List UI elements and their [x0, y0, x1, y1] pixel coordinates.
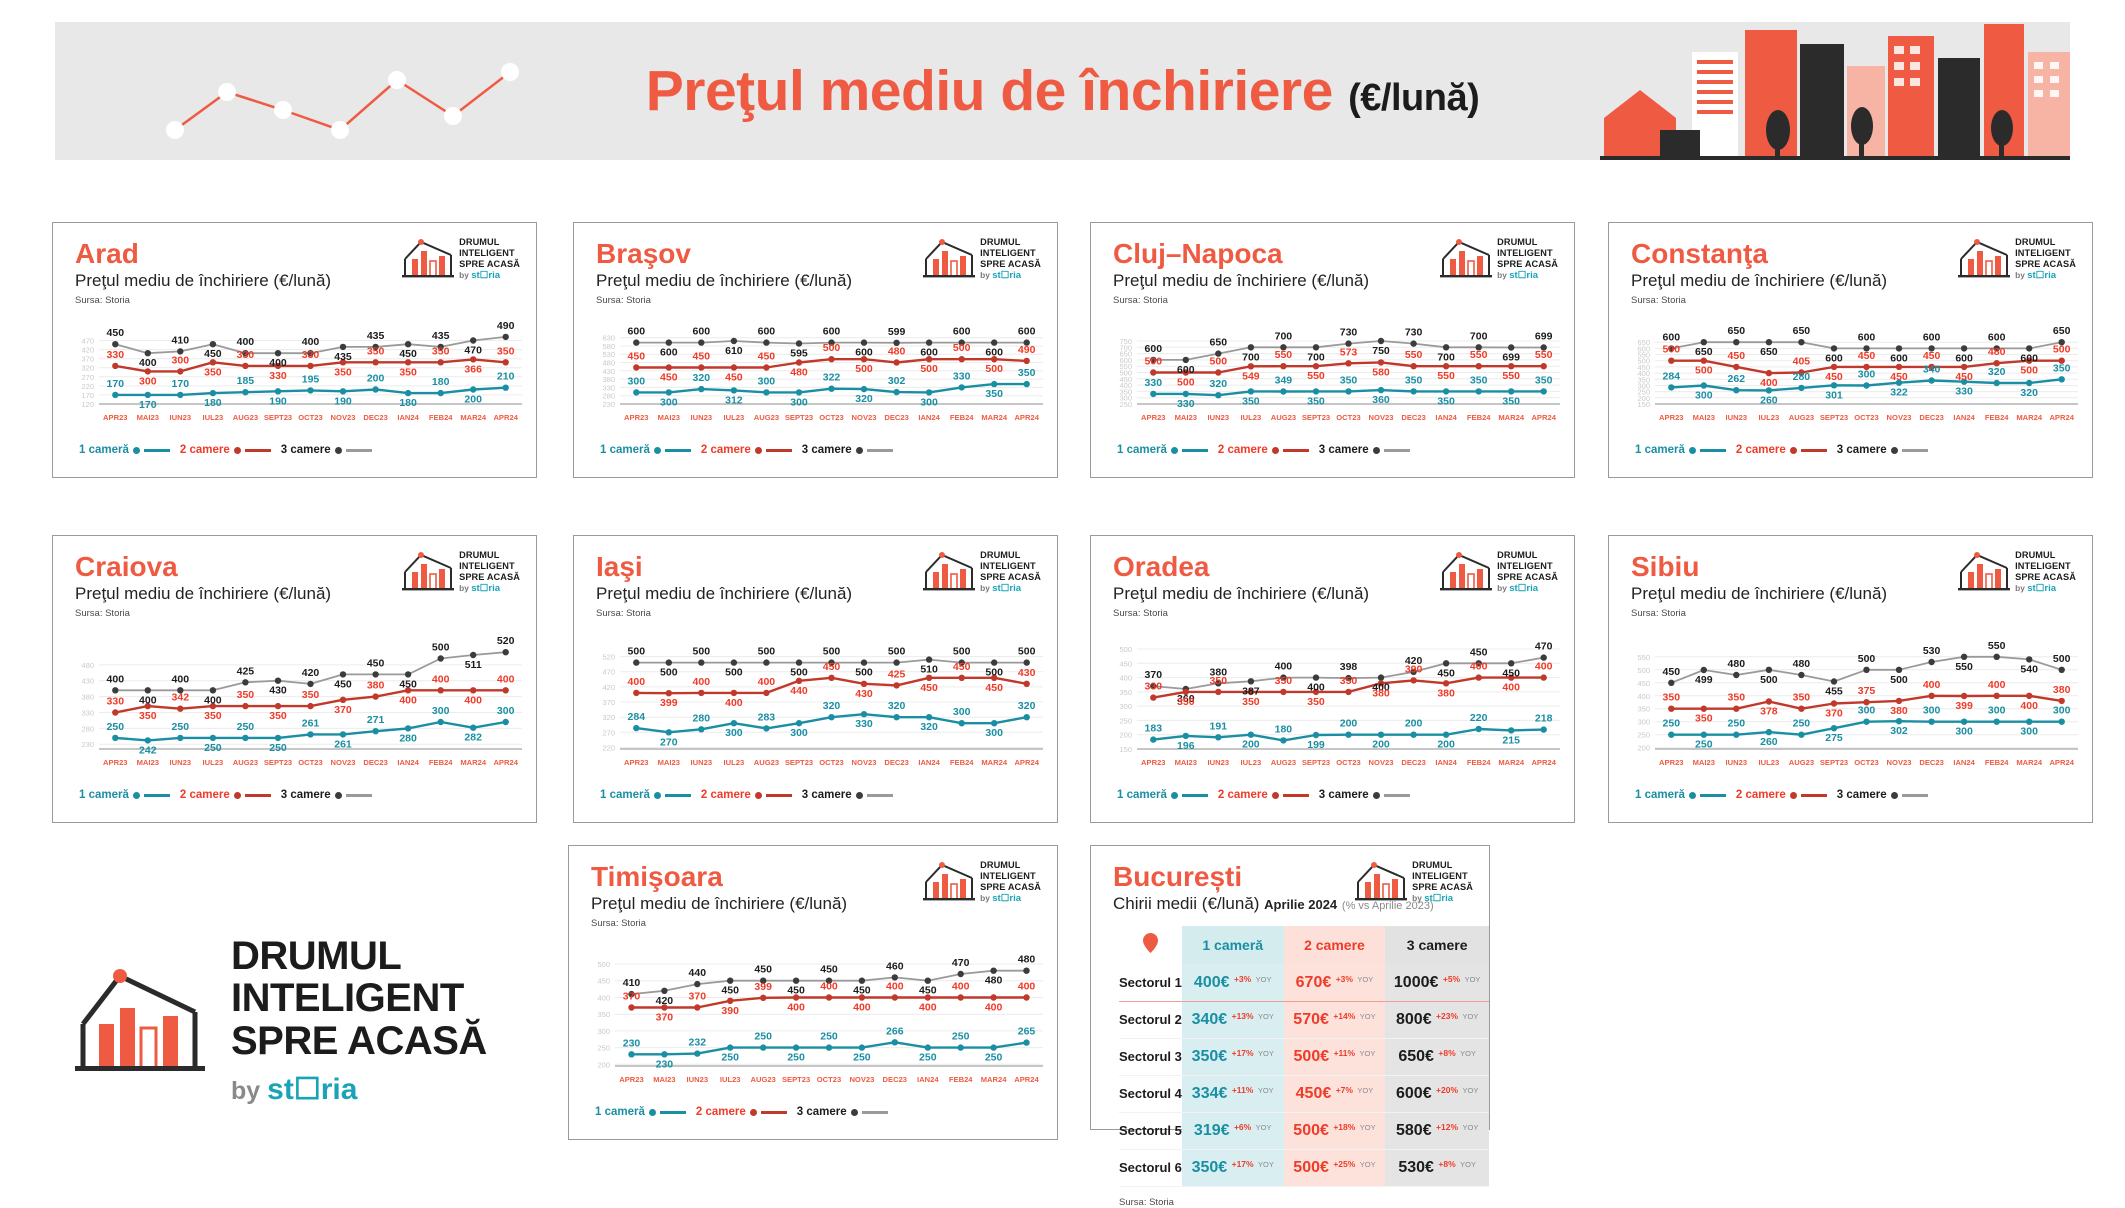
data-label: 580 [1372, 367, 1390, 379]
data-label: 300 [758, 376, 776, 388]
table-cell-value: 400€ +3% YOY [1182, 964, 1284, 1001]
data-label: 200 [1405, 718, 1423, 730]
legend-line-icon [766, 449, 792, 451]
cityscape-illustration [1600, 22, 2070, 160]
rent-yoy-label: YOY [1258, 1160, 1274, 1169]
data-label: 450 [853, 985, 871, 997]
storia-wordmark: st☐ria [1424, 893, 1453, 904]
data-point [1443, 732, 1449, 738]
brand-by: by st☐ria [980, 893, 1041, 904]
data-point [1476, 363, 1482, 369]
data-point [1508, 363, 1514, 369]
data-label: 400 [269, 358, 287, 370]
brand-line2: INTELIGENT [1412, 871, 1473, 882]
data-label: 200 [1372, 739, 1390, 751]
legend-item-2[interactable]: 2 camere [1736, 789, 1827, 801]
data-label: 322 [1890, 387, 1908, 399]
data-point [990, 968, 996, 974]
data-label: 550 [1437, 371, 1455, 383]
svg-text:500: 500 [1119, 645, 1132, 654]
x-axis-tick: FEB24 [950, 758, 974, 767]
data-label: 400 [464, 695, 482, 707]
svg-text:220: 220 [81, 382, 94, 391]
table-row: Sectorul 3 350€ +17% YOY 500€ +11% YOY 6… [1119, 1038, 1489, 1075]
legend-line-icon [867, 449, 893, 451]
rent-pct-change: +8% [1438, 1159, 1455, 1169]
brand-line2: INTELIGENT [1497, 248, 1558, 259]
data-label: 350 [1535, 375, 1553, 387]
x-axis-tick: OCT23 [1854, 758, 1878, 767]
data-point [470, 338, 476, 344]
data-label: 650 [1210, 337, 1228, 349]
data-label: 330 [269, 370, 287, 382]
x-axis-tick: MAR24 [460, 413, 487, 422]
data-label: 450 [1923, 350, 1941, 362]
data-label: 420 [302, 667, 320, 679]
brand-line1: DRUMUL [980, 860, 1041, 871]
data-label: 400 [952, 981, 970, 993]
data-point [470, 725, 476, 731]
data-point [503, 334, 509, 340]
legend-item-1[interactable]: 1 cameră [1117, 444, 1208, 456]
rent-value: 580€ [1396, 1122, 1432, 1139]
legend-item-3[interactable]: 3 camere [802, 444, 893, 456]
data-point [666, 390, 672, 396]
table-header-row: 1 cameră 2 camere 3 camere [1119, 926, 1489, 964]
rent-pct-change: +17% [1232, 1159, 1254, 1169]
x-axis-tick: IUL23 [724, 758, 745, 767]
data-point [340, 732, 346, 738]
data-point [1378, 338, 1384, 344]
data-point [1443, 680, 1449, 686]
brand-line1: DRUMUL [2015, 550, 2076, 561]
data-point [1831, 679, 1837, 685]
card-source: Sursa: Storia [596, 295, 1057, 306]
drumul-house-icon [1355, 860, 1407, 902]
data-label: 500 [985, 667, 1003, 679]
rent-pct-change: +20% [1436, 1085, 1458, 1095]
legend-line-icon [1384, 449, 1410, 451]
data-point [2026, 380, 2032, 386]
data-label: 250 [787, 1052, 805, 1064]
data-point [760, 1045, 766, 1051]
data-point [1896, 667, 1902, 673]
legend-item-1[interactable]: 1 cameră [79, 444, 170, 456]
brand-line3: SPRE ACASĂ [1497, 572, 1558, 583]
data-point [633, 725, 639, 731]
brand-line3: SPRE ACASĂ [980, 572, 1041, 583]
data-point [503, 649, 509, 655]
data-label: 650 [1760, 347, 1778, 359]
data-point [242, 679, 248, 685]
data-label: 230 [656, 1059, 674, 1071]
data-label: 280 [399, 733, 417, 745]
data-label: 350 [1307, 396, 1325, 408]
data-label: 195 [302, 374, 320, 386]
data-point [893, 683, 899, 689]
data-label: 390 [1405, 664, 1423, 676]
data-label: 400 [1307, 682, 1325, 694]
legend-line-icon [245, 794, 271, 796]
legend-label: 2 camere [1218, 789, 1268, 801]
data-label: 400 [1988, 679, 2006, 691]
data-point [991, 720, 997, 726]
data-label: 300 [497, 705, 515, 717]
svg-text:470: 470 [602, 668, 615, 677]
data-point [112, 710, 118, 716]
x-axis-tick: MAI23 [137, 758, 159, 767]
card-brand-lockup: DRUMUL INTELIGENT SPRE ACASĂ by st☐ria [923, 860, 1041, 904]
data-label: 600 [985, 347, 1003, 359]
table-cell-value: 580€ +12% YOY [1385, 1112, 1489, 1149]
brand-line3: SPRE ACASĂ [459, 572, 520, 583]
footer-logo-line3: SPRE ACASĂ [231, 1020, 487, 1062]
city-card-craiova: Craiova Preţul mediu de închiriere (€/lu… [52, 535, 537, 823]
svg-text:450: 450 [1119, 660, 1132, 669]
legend-item-2[interactable]: 2 camere [701, 789, 792, 801]
legend-item-2[interactable]: 2 camere [180, 444, 271, 456]
x-axis-tick: APR23 [1659, 758, 1683, 767]
data-point [112, 392, 118, 398]
data-point [1183, 357, 1189, 363]
x-axis-tick: IUL23 [720, 1075, 741, 1084]
data-label: 266 [886, 1026, 904, 1038]
table-cell-sector: Sectorul 2 [1119, 1001, 1182, 1038]
table-header-pin [1119, 926, 1182, 964]
data-label: 300 [660, 397, 678, 409]
data-point [861, 681, 867, 687]
legend-line-icon [346, 449, 372, 451]
data-label: 500 [855, 364, 873, 376]
x-axis-tick: NOV23 [849, 1075, 874, 1084]
x-axis-tick: DEC23 [884, 413, 908, 422]
legend-dot-icon [856, 447, 863, 454]
brand-by: by st☐ria [2015, 583, 2076, 594]
x-axis-tick: IUN23 [691, 413, 713, 422]
data-point [958, 971, 964, 977]
legend-label: 1 cameră [79, 444, 129, 456]
data-point [1701, 339, 1707, 345]
data-label: 200 [1340, 718, 1358, 730]
data-label: 350 [1177, 696, 1195, 708]
data-point [1443, 389, 1449, 395]
data-label: 480 [790, 367, 808, 379]
data-point [1798, 672, 1804, 678]
legend-line-icon [1902, 794, 1928, 796]
data-point [1766, 339, 1772, 345]
data-label: 470 [1535, 641, 1553, 653]
data-point [2026, 719, 2032, 725]
data-label: 350 [1437, 396, 1455, 408]
legend-line-icon [665, 449, 691, 451]
x-axis-tick: OCT23 [819, 758, 843, 767]
data-label: 550 [1405, 350, 1423, 362]
legend-dot-icon [654, 792, 661, 799]
data-label: 330 [1955, 386, 1973, 398]
data-label: 350 [367, 346, 385, 358]
card-source: Sursa: Storia [1631, 295, 2092, 306]
legend-line-icon [1384, 794, 1410, 796]
legend-dot-icon [1790, 447, 1797, 454]
rent-value: 450€ [1296, 1085, 1332, 1102]
brand-line2: INTELIGENT [980, 561, 1041, 572]
x-axis-tick: AUG23 [754, 758, 779, 767]
data-point [1766, 729, 1772, 735]
data-label: 271 [367, 715, 385, 727]
city-card-arad: Arad Preţul mediu de închiriere (€/lună)… [52, 222, 537, 478]
x-axis-tick: SEPT23 [1302, 413, 1330, 422]
legend-item-1[interactable]: 1 cameră [1635, 444, 1726, 456]
data-label: 699 [1502, 352, 1520, 364]
storia-wordmark: st☐ria [2027, 270, 2056, 281]
legend-item-1[interactable]: 1 cameră [79, 789, 170, 801]
data-point [1541, 727, 1547, 733]
data-label: 350 [1663, 692, 1681, 704]
legend-item-2[interactable]: 2 camere [180, 789, 271, 801]
legend-item-2[interactable]: 2 camere [696, 1106, 787, 1118]
data-point [242, 735, 248, 741]
rent-yoy-label: YOY [1460, 1049, 1476, 1058]
data-point [1280, 363, 1286, 369]
data-label: 250 [269, 742, 287, 754]
data-point [727, 1045, 733, 1051]
legend-dot-icon [1272, 447, 1279, 454]
svg-text:480: 480 [81, 661, 94, 670]
drumul-house-icon [1958, 237, 2010, 279]
storia-wordmark: st☐ria [471, 270, 500, 281]
line-chart: 2302803303804304805305806306006006006106… [574, 306, 1053, 444]
x-axis-tick: FEB24 [1467, 758, 1491, 767]
rent-pct-change: +5% [1443, 974, 1460, 984]
data-label: 600 [1145, 343, 1163, 355]
legend-item-1[interactable]: 1 cameră [1117, 789, 1208, 801]
legend-item-3[interactable]: 3 camere [797, 1106, 888, 1118]
legend-item-2[interactable]: 2 camere [701, 444, 792, 456]
legend-item-3[interactable]: 3 camere [1319, 444, 1410, 456]
data-point [210, 735, 216, 741]
data-label: 470 [464, 345, 482, 357]
data-point [1313, 363, 1319, 369]
data-point [731, 388, 737, 394]
data-label: 400 [985, 1002, 1003, 1014]
data-label: 700 [1470, 331, 1488, 343]
legend-item-2[interactable]: 2 camere [1736, 444, 1827, 456]
data-label: 302 [888, 375, 906, 387]
data-point [694, 981, 700, 987]
legend-dot-icon [1891, 447, 1898, 454]
data-label: 360 [1372, 394, 1390, 406]
data-label: 450 [823, 661, 841, 673]
data-label: 600 [953, 326, 971, 338]
x-axis-tick: SEPT23 [782, 1075, 810, 1084]
data-label: 400 [399, 695, 417, 707]
data-label: 370 [656, 1012, 674, 1024]
legend-item-1[interactable]: 1 cameră [600, 789, 691, 801]
data-point [698, 690, 704, 696]
drumul-inteligent-house-icon [75, 962, 205, 1080]
data-label: 400 [204, 695, 222, 707]
data-label: 301 [1825, 390, 1843, 402]
data-label: 600 [920, 347, 938, 359]
data-label: 500 [1890, 674, 1908, 686]
data-point [633, 365, 639, 371]
x-axis-tick: MAI23 [1693, 758, 1715, 767]
data-point [1313, 732, 1319, 738]
chart-legend: 1 cameră 2 camere 3 camere [574, 789, 1057, 801]
x-axis-tick: IAN24 [918, 758, 940, 767]
data-label: 350 [139, 710, 157, 722]
legend-label: 2 camere [1736, 444, 1786, 456]
data-point [893, 360, 899, 366]
data-point [177, 706, 183, 712]
data-point [307, 732, 313, 738]
data-point [1668, 732, 1674, 738]
data-label: 573 [1340, 347, 1358, 359]
data-label: 300 [2020, 726, 2038, 738]
data-point [633, 690, 639, 696]
legend-item-3[interactable]: 3 camere [802, 789, 893, 801]
data-label: 455 [1825, 686, 1843, 698]
data-point [1024, 381, 1030, 387]
rent-value: 500€ [1294, 1048, 1330, 1065]
data-point [828, 714, 834, 720]
data-label: 500 [1663, 344, 1681, 356]
data-label: 600 [1955, 353, 1973, 365]
svg-text:270: 270 [81, 373, 94, 382]
rent-value: 670€ [1296, 974, 1332, 991]
data-point [666, 365, 672, 371]
data-label: 400 [758, 676, 776, 688]
x-axis-tick: IUN23 [1726, 758, 1748, 767]
data-point [470, 652, 476, 658]
data-label: 330 [953, 371, 971, 383]
data-label: 700 [1242, 352, 1260, 364]
data-label: 250 [1695, 739, 1713, 751]
data-point [763, 365, 769, 371]
legend-item-1[interactable]: 1 cameră [595, 1106, 686, 1118]
data-point [859, 1045, 865, 1051]
data-label: 350 [2053, 363, 2071, 375]
legend-label: 2 camere [696, 1106, 746, 1118]
legend-item-1[interactable]: 1 cameră [600, 444, 691, 456]
legend-item-3[interactable]: 3 camere [1837, 444, 1928, 456]
line-chart: 2202703203704204705205005005005005005005… [574, 619, 1053, 789]
legend-item-3[interactable]: 3 camere [1319, 789, 1410, 801]
data-label: 375 [1858, 686, 1876, 698]
storia-wordmark: st☐ria [992, 270, 1021, 281]
svg-text:630: 630 [602, 334, 615, 343]
x-axis-tick: IAN24 [397, 758, 419, 767]
data-label: 400 [853, 1002, 871, 1014]
x-axis-tick: MAR24 [2016, 758, 2043, 767]
data-label: 700 [1307, 352, 1325, 364]
x-axis-tick: NOV23 [1887, 758, 1912, 767]
x-axis-tick: APR23 [1141, 413, 1165, 422]
table-cell-value: 350€ +17% YOY [1182, 1149, 1284, 1186]
data-point [2059, 698, 2065, 704]
data-point [1701, 383, 1707, 389]
data-point [145, 687, 151, 693]
rent-pct-change: +7% [1336, 1085, 1353, 1095]
legend-label: 3 camere [281, 789, 331, 801]
data-point [1410, 341, 1416, 347]
data-point [1378, 732, 1384, 738]
data-label: 610 [725, 345, 743, 357]
data-label: 370 [689, 991, 707, 1003]
data-point [628, 1051, 634, 1057]
rent-pct-change: +25% [1333, 1159, 1355, 1169]
legend-item-2[interactable]: 2 camere [1218, 789, 1309, 801]
data-label: 320 [888, 701, 906, 713]
x-axis-tick: DEC23 [1401, 413, 1425, 422]
card-source: Sursa: Storia [591, 918, 1057, 929]
svg-text:200: 200 [1637, 744, 1650, 753]
data-label: 450 [787, 985, 805, 997]
legend-item-1[interactable]: 1 cameră [1635, 789, 1726, 801]
rent-yoy-label: YOY [1256, 1123, 1272, 1132]
x-axis-tick: IUN23 [170, 413, 192, 422]
rent-yoy-label: YOY [1258, 1049, 1274, 1058]
svg-text:400: 400 [1637, 692, 1650, 701]
data-point [633, 660, 639, 666]
table-row: Sectorul 6 350€ +17% YOY 500€ +25% YOY 5… [1119, 1149, 1489, 1186]
data-label: 300 [1988, 705, 2006, 717]
svg-text:250: 250 [1637, 731, 1650, 740]
data-label: 450 [1825, 371, 1843, 383]
data-label: 500 [1177, 377, 1195, 389]
table-row: Sectorul 5 319€ +6% YOY 500€ +18% YOY 58… [1119, 1112, 1489, 1149]
data-label: 300 [985, 728, 1003, 740]
data-point [1798, 706, 1804, 712]
legend-line-icon [346, 794, 372, 796]
legend-line-icon [1182, 449, 1208, 451]
svg-text:330: 330 [602, 384, 615, 393]
data-label: 430 [269, 685, 287, 697]
x-axis-tick: OCT23 [298, 758, 322, 767]
data-point [1733, 364, 1739, 370]
data-label: 400 [1275, 661, 1293, 673]
legend-item-3[interactable]: 3 camere [281, 789, 372, 801]
data-label: 350 [432, 346, 450, 358]
data-point [1766, 667, 1772, 673]
legend-label: 2 camere [701, 444, 751, 456]
rent-pct-change: +23% [1436, 1011, 1458, 1021]
legend-line-icon [1283, 794, 1309, 796]
data-point [698, 340, 704, 346]
data-label: 280 [1793, 371, 1811, 383]
drumul-house-icon [402, 550, 454, 592]
data-point [112, 341, 118, 347]
data-label: 550 [1470, 350, 1488, 362]
legend-item-3[interactable]: 3 camere [281, 444, 372, 456]
drumul-house-icon [923, 237, 975, 279]
line-chart: 1502002503003504004505003703603803874004… [1091, 619, 1570, 789]
data-label: 600 [693, 326, 711, 338]
data-point [1541, 363, 1547, 369]
legend-item-2[interactable]: 2 camere [1218, 444, 1309, 456]
data-point [926, 657, 932, 663]
data-label: 400 [725, 697, 743, 709]
data-label: 650 [1793, 326, 1811, 338]
data-point [372, 728, 378, 734]
data-label: 330 [1145, 681, 1163, 693]
card-brand-lockup: DRUMUL INTELIGENT SPRE ACASĂ by st☐ria [923, 550, 1041, 594]
legend-dot-icon [1272, 792, 1279, 799]
card-brand-lockup: DRUMUL INTELIGENT SPRE ACASĂ by st☐ria [923, 237, 1041, 281]
legend-item-3[interactable]: 3 camere [1837, 789, 1928, 801]
data-label: 300 [790, 728, 808, 740]
rent-value: 350€ [1192, 1159, 1228, 1176]
